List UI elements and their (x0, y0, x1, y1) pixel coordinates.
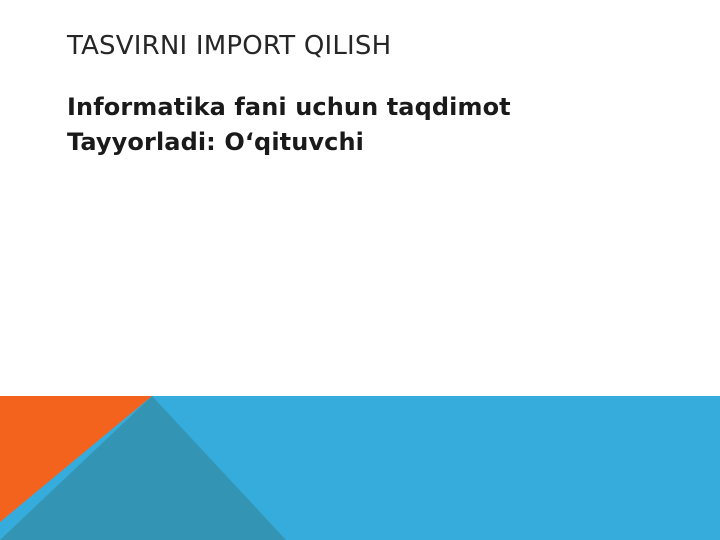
body-line-author: Tayyorladi: O‘qituvchi (67, 125, 667, 160)
body-line-subtitle: Informatika fani uchun taqdimot (67, 90, 667, 125)
presentation-slide: TASVIRNI IMPORT QILISH Informatika fani … (0, 0, 720, 540)
slide-body: Informatika fani uchun taqdimot Tayyorla… (67, 90, 667, 160)
footer-decoration (0, 396, 720, 540)
page-title: TASVIRNI IMPORT QILISH (67, 31, 667, 62)
footer-decoration-svg (0, 396, 720, 540)
